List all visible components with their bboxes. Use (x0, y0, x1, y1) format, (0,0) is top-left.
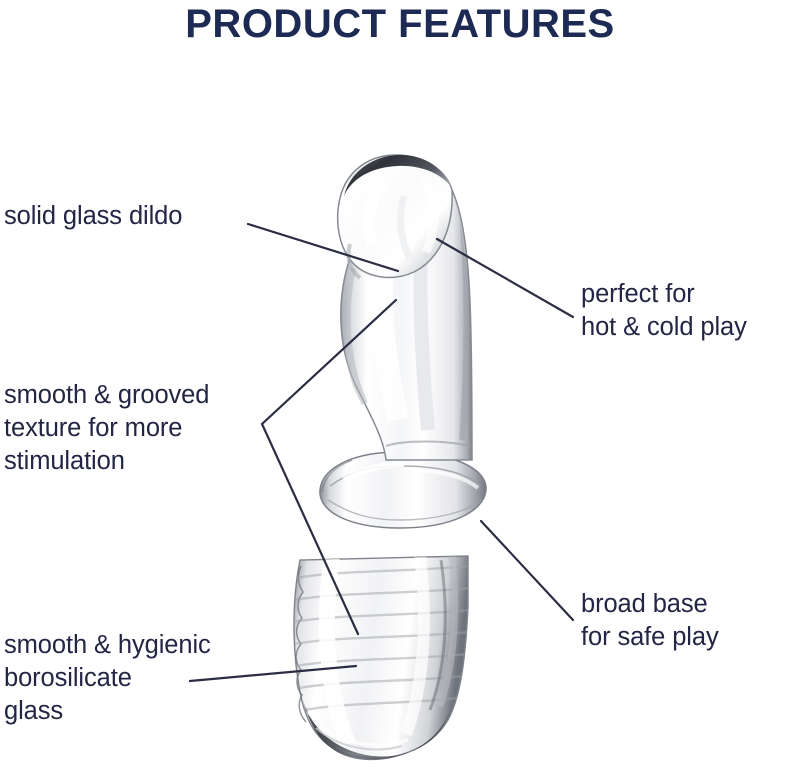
callout-label-broad-base: broad base for safe play (581, 588, 719, 654)
callout-label-texture: smooth & grooved texture for more stimul… (4, 379, 209, 478)
callout-line: glass (4, 695, 211, 728)
callout-label-solid-glass: solid glass dildo (4, 200, 182, 233)
callout-line: smooth & hygienic (4, 629, 211, 662)
callout-line: for safe play (581, 621, 719, 654)
product-features-diagram: PRODUCT FEATURES (0, 0, 800, 769)
callout-line: hot & cold play (581, 311, 747, 344)
callout-line: smooth & grooved (4, 379, 209, 412)
callout-label-borosilicate: smooth & hygienic borosilicate glass (4, 629, 211, 728)
product-ribbed-base (293, 556, 470, 760)
product-flange-ring (320, 452, 486, 528)
callout-line: broad base (581, 588, 719, 621)
callout-line: perfect for (581, 278, 747, 311)
leader-line-broad-base (481, 521, 573, 620)
callout-line: stimulation (4, 445, 209, 478)
callout-label-hot-cold: perfect for hot & cold play (581, 278, 747, 344)
callout-line: borosilicate (4, 662, 211, 695)
callout-line: texture for more (4, 412, 209, 445)
callout-line: solid glass dildo (4, 200, 182, 233)
